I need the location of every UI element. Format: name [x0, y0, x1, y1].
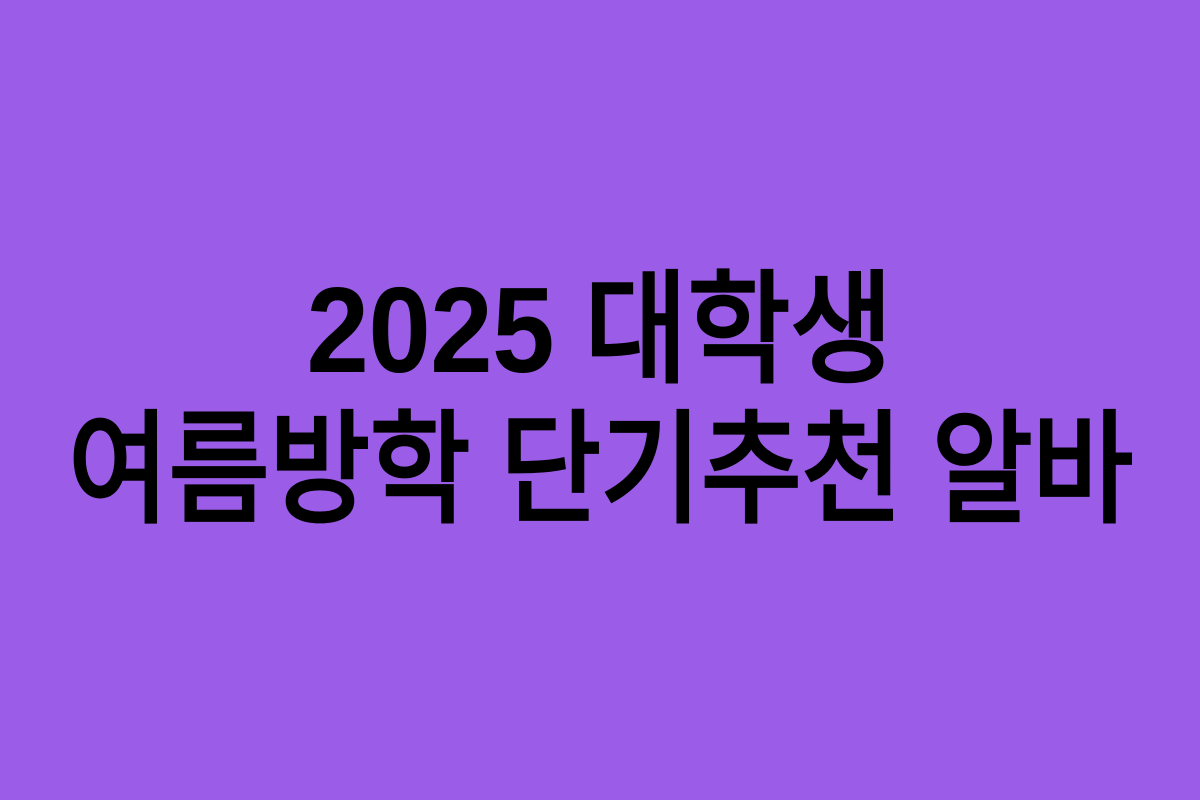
- headline-line-2: 여름방학 단기추천 알바: [68, 403, 1133, 537]
- headline-block: 2025 대학생 여름방학 단기추천 알바: [0, 263, 1200, 537]
- promo-banner: 2025 대학생 여름방학 단기추천 알바: [0, 0, 1200, 800]
- headline-line-1: 2025 대학생: [307, 263, 893, 397]
